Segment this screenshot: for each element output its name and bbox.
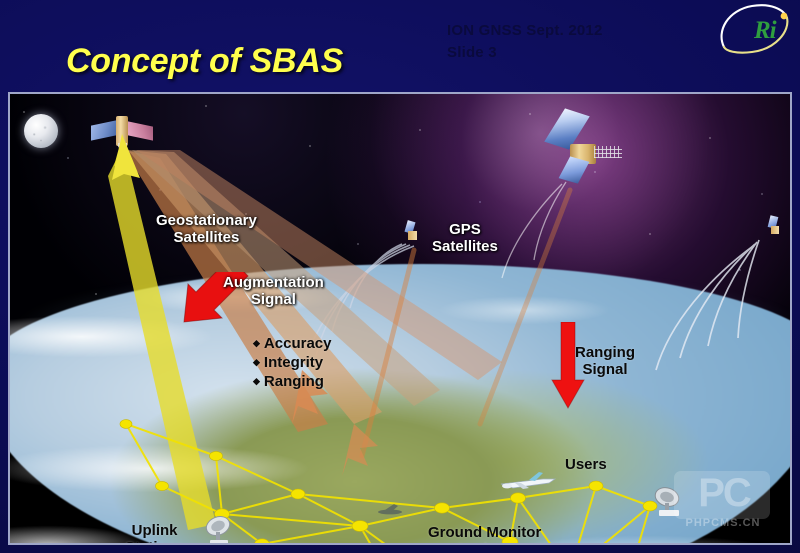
label-line: Uplink: [125, 522, 184, 539]
label-line: Signal: [575, 361, 635, 378]
page-title: Concept of SBAS: [66, 42, 343, 81]
network-node: [435, 503, 450, 513]
watermark-mark: PC: [678, 471, 770, 516]
label-line: Satellites: [156, 229, 257, 246]
airplane-icon: [499, 470, 557, 492]
sbas-services-list: Accuracy Integrity Ranging: [253, 335, 331, 392]
list-item: Integrity: [253, 354, 331, 373]
network-node: [210, 451, 223, 460]
logo-wordmark: Ri: [754, 17, 776, 45]
network-node: [120, 420, 132, 429]
label-ground-monitor-stations: Ground Monitor Stations: [428, 524, 541, 545]
list-item: Ranging: [253, 373, 331, 392]
network-node: [589, 481, 603, 491]
label-uplink-stations: Uplink Stations: [125, 522, 184, 545]
ri-logo: Ri: [714, 1, 792, 57]
orbit-swoosh-icon: [714, 1, 792, 57]
label-line: Stations: [428, 541, 541, 545]
label-users: Users: [565, 456, 607, 473]
slide-header: Concept of SBAS ION GNSS Sept. 2012 Slid…: [0, 0, 800, 92]
network-node: [156, 481, 169, 490]
watermark-site: PHPCMS.CN: [670, 517, 776, 529]
conference-note: ION GNSS Sept. 2012: [447, 22, 603, 39]
slide-number-note: Slide 3: [447, 44, 497, 61]
uplink-dish-icon: [202, 512, 240, 545]
label-ranging-signal: Ranging Signal: [575, 344, 635, 378]
label-line: Ground Monitor: [428, 524, 541, 541]
list-item: Accuracy: [253, 335, 331, 354]
slide-canvas: Concept of SBAS ION GNSS Sept. 2012 Slid…: [0, 0, 800, 553]
label-geostationary-satellites: Geostationary Satellites: [156, 212, 257, 246]
aircraft-silhouette-icon: [378, 504, 402, 514]
label-line: Ranging: [575, 344, 635, 361]
label-line: Satellites: [432, 238, 498, 255]
label-augmentation-signal: Augmentation Signal: [223, 274, 324, 308]
label-line: Geostationary: [156, 212, 257, 229]
watermark: PC PHPCMS.CN: [664, 465, 782, 539]
label-gps-satellites: GPS Satellites: [432, 221, 498, 255]
network-node: [291, 489, 305, 499]
label-line: Augmentation: [223, 274, 324, 291]
label-line: GPS: [432, 221, 498, 238]
sbas-concept-illustration: Geostationary Satellites GPS Satellites …: [8, 92, 792, 545]
network-node: [352, 521, 368, 532]
label-line: Stations: [125, 539, 184, 545]
label-line: Signal: [223, 291, 324, 308]
network-node: [511, 493, 526, 503]
